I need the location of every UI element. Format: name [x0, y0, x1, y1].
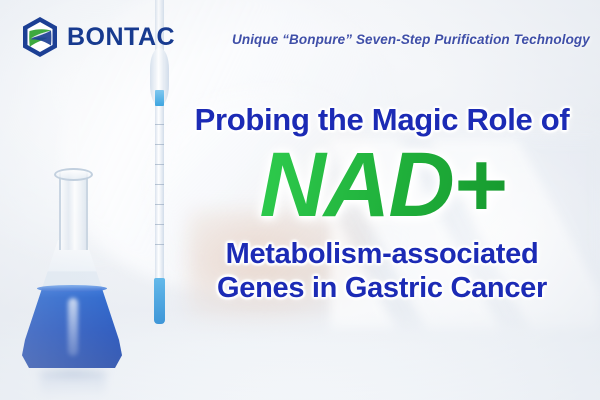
- headline-highlight-wrap: NAD+: [172, 139, 592, 231]
- pipette-graduation-mark: [155, 144, 164, 145]
- flask-neck: [59, 172, 88, 250]
- headline-block: Probing the Magic Role of NAD+ Metabolis…: [172, 104, 592, 305]
- headline-line-4: Genes in Gastric Cancer: [172, 271, 592, 305]
- bontac-wordmark: BONTAC: [67, 25, 175, 50]
- pipette-liquid: [155, 90, 164, 106]
- pipette-graduation-mark: [155, 204, 164, 205]
- pipette-graduation-mark: [155, 244, 164, 245]
- flask-reflection: [40, 372, 106, 398]
- pipette-graduation-mark: [155, 164, 164, 165]
- erlenmeyer-flask-icon: [18, 168, 126, 373]
- brand-tagline: Unique “Bonpure” Seven-Step Purification…: [232, 32, 582, 47]
- pipette-graduation-mark: [155, 224, 164, 225]
- flask-lip: [54, 168, 93, 181]
- pipette-graduation-mark: [155, 184, 164, 185]
- pipette-tip-liquid: [154, 278, 165, 324]
- headline-highlight-nad-plus: NAD+: [259, 139, 504, 231]
- bontac-hexagon-leaf-icon: [20, 16, 60, 58]
- flask-liquid-surface: [37, 285, 107, 292]
- pipette-graduation-mark: [155, 124, 164, 125]
- headline-line-1: Probing the Magic Role of: [172, 104, 592, 137]
- brand-logo[interactable]: BONTAC: [20, 16, 175, 58]
- flask-highlight: [68, 298, 78, 356]
- promo-banner: BONTAC Unique “Bonpure” Seven-Step Purif…: [0, 0, 600, 400]
- headline-line-3: Metabolism-associated: [172, 237, 592, 271]
